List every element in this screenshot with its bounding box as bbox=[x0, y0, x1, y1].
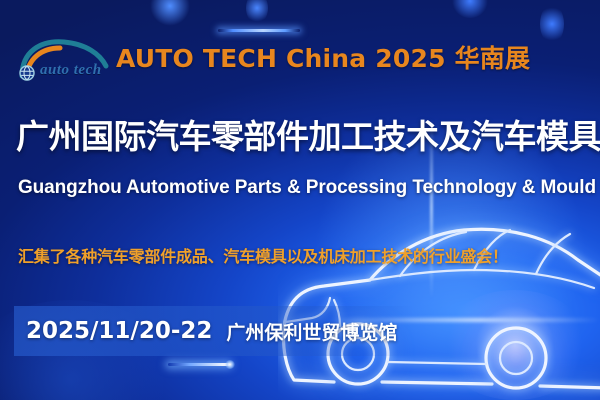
tagline-text: 汇集了各种汽车零部件成品、汽车模具以及机床加工技术的行业盛会！ bbox=[18, 243, 508, 267]
background-glow-blob bbox=[440, 290, 590, 400]
light-streak-top bbox=[218, 29, 300, 32]
auto-tech-logo: auto tech bbox=[14, 36, 112, 82]
background-glow-blob bbox=[246, 0, 268, 24]
logo-wordmark: auto tech bbox=[40, 62, 102, 79]
background-glow-blob bbox=[150, 0, 190, 26]
glowing-car-outline-icon bbox=[278, 176, 600, 400]
brand-line-text: AUTO TECH China 2025 华南展 bbox=[116, 39, 530, 75]
background-glow-blob bbox=[540, 4, 564, 44]
brand-line: AUTO TECH China 2025 华南展 bbox=[116, 41, 530, 73]
event-date: 2025/11/20-22 bbox=[26, 318, 212, 344]
page-title-chinese: 广州国际汽车零部件加工技术及汽车模具展览会 bbox=[16, 117, 588, 157]
page-title-english: Guangzhou Automotive Parts & Processing … bbox=[18, 177, 600, 199]
date-venue-bar: 2025/11/20-22 广州保利世贸博览馆 bbox=[14, 306, 415, 356]
event-venue: 广州保利世贸博览馆 bbox=[226, 318, 397, 345]
light-streak-bottom bbox=[168, 363, 230, 366]
expo-banner: auto tech AUTO TECH China 2025 华南展 广州国际汽… bbox=[0, 0, 600, 400]
background-glow-blob bbox=[452, 0, 488, 18]
